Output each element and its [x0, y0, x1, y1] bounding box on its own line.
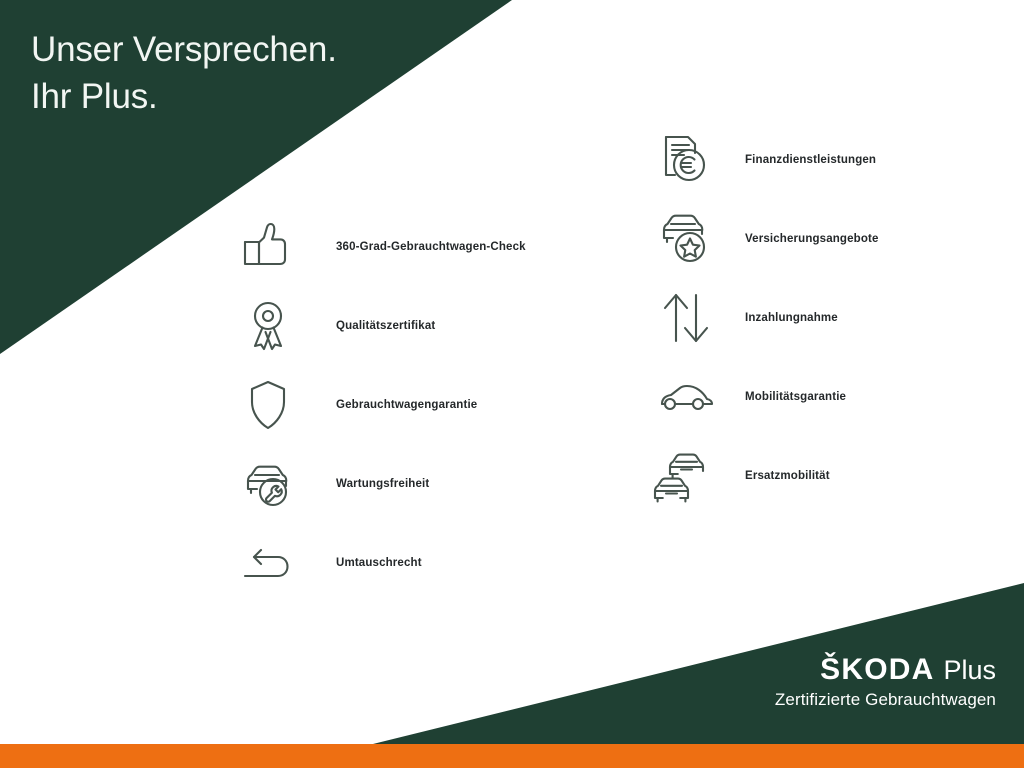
list-item: 360-Grad-Gebrauchtwagen-Check: [232, 207, 602, 286]
award-rosette-icon: [232, 297, 304, 355]
promo-banner: Unser Versprechen. Ihr Plus. 360-Grad-Ge…: [0, 0, 1024, 768]
list-item-label: Inzahlungnahme: [745, 312, 838, 324]
headline-line-1: Unser Versprechen.: [31, 26, 337, 73]
list-item-label: 360-Grad-Gebrauchtwagen-Check: [336, 241, 526, 253]
u-turn-arrow-icon: [232, 534, 304, 592]
up-down-arrows-icon: [650, 289, 722, 347]
list-item: Versicherungsangebote: [650, 199, 1010, 278]
brand-plus-label: Plus: [943, 657, 996, 684]
headline-line-2: Ihr Plus.: [31, 73, 337, 120]
brand-name-row: ŠKODA Plus: [775, 655, 996, 685]
list-item: Finanzdienstleistungen: [650, 120, 1010, 199]
list-item: Mobilitätsgarantie: [650, 357, 1010, 436]
list-item-label: Ersatzmobilität: [745, 470, 830, 482]
thumbs-up-icon: [232, 218, 304, 276]
document-euro-icon: [650, 131, 722, 189]
list-item-label: Finanzdienstleistungen: [745, 154, 876, 166]
list-item-label: Qualitätszertifikat: [336, 320, 435, 332]
list-item: Wartungsfreiheit: [232, 444, 602, 523]
list-item-label: Mobilitätsgarantie: [745, 391, 846, 403]
benefits-column-right: Finanzdienstleistungen Versicherungsange…: [650, 120, 1010, 515]
benefits-column-left: 360-Grad-Gebrauchtwagen-Check Qualitätsz…: [232, 207, 602, 602]
list-item-label: Umtauschrecht: [336, 557, 422, 569]
page-title: Unser Versprechen. Ihr Plus.: [31, 26, 337, 120]
car-wrench-icon: [232, 455, 304, 513]
brand-subline: Zertifizierte Gebrauchtwagen: [775, 690, 996, 710]
list-item-label: Wartungsfreiheit: [336, 478, 429, 490]
shield-icon: [232, 376, 304, 434]
list-item-label: Gebrauchtwagengarantie: [336, 399, 477, 411]
brand-lockup: ŠKODA Plus Zertifizierte Gebrauchtwagen: [775, 655, 996, 710]
list-item: Umtauschrecht: [232, 523, 602, 602]
list-item: Qualitätszertifikat: [232, 286, 602, 365]
car-side-icon: [650, 368, 722, 426]
list-item: Ersatzmobilität: [650, 436, 1010, 515]
list-item-label: Versicherungsangebote: [745, 233, 879, 245]
list-item: Inzahlungnahme: [650, 278, 1010, 357]
list-item: Gebrauchtwagengarantie: [232, 365, 602, 444]
car-star-badge-icon: [650, 210, 722, 268]
two-cars-front-icon: [650, 445, 722, 507]
skoda-wordmark: ŠKODA: [820, 655, 934, 685]
orange-accent-bar: [0, 744, 1024, 768]
